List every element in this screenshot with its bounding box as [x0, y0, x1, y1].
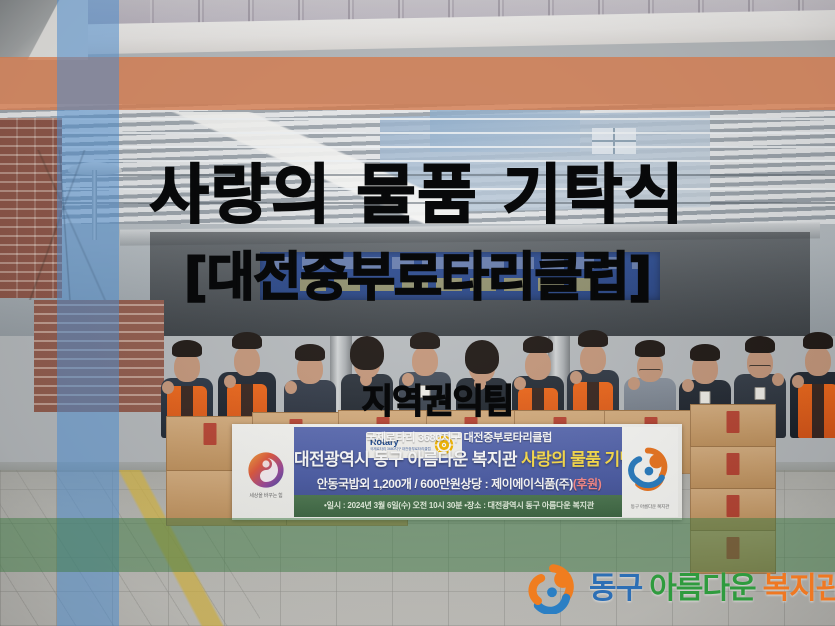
person-hair	[295, 344, 325, 361]
banner-line-3-highlight: (후원)	[573, 477, 601, 491]
banner-line-1: 국제로타리 3680지구 대전중부로타리클럽	[294, 431, 624, 446]
railing-bar	[0, 132, 835, 134]
korea-government-emblem-icon	[246, 450, 286, 490]
person-head	[580, 344, 606, 374]
person-hair	[690, 344, 720, 361]
railing-bar	[0, 118, 835, 120]
brand-word-areumdaun: 아름다운	[649, 571, 755, 606]
person-hair	[172, 340, 202, 357]
poster-canvas: 세상을 바꾸는 힘 Rotary 국제로타리 3680지구 대전중부로타리클럽	[0, 0, 835, 626]
railing-bar	[0, 146, 835, 148]
box-stamp	[727, 495, 740, 517]
banner-blue-panel: Rotary 국제로타리 3680지구 대전중부로타리클럽	[294, 427, 624, 517]
brand-wordmark: 동구아름다운복지관	[589, 574, 835, 604]
banner-footer-text: •일시 : 2024년 3월 6일(수) 오전 10시 30분 •장소 : 대전…	[294, 495, 624, 517]
person-hair	[410, 332, 440, 349]
person-hair	[745, 336, 775, 353]
page-subtitle: [대전중부로타리클럽]	[0, 248, 835, 308]
brand-lockup: 동구아름다운복지관	[524, 562, 835, 616]
team-label: 지역권익팀	[0, 382, 835, 422]
person-hair	[803, 332, 833, 349]
banner-line-2-prefix: 대전광역시 동구 아름다운 복지관	[294, 450, 521, 469]
page-title: 사랑의 물품 기탁식	[0, 160, 835, 232]
donggu-welfare-logo-icon	[524, 564, 580, 614]
brand-word-bokjigwan: 복지관	[763, 571, 835, 606]
person-hair	[635, 340, 665, 357]
brand-word-donggu: 동구	[589, 571, 642, 606]
box-stamp	[727, 453, 740, 475]
person-head	[805, 346, 831, 376]
person-head	[525, 350, 551, 380]
person-hair	[523, 336, 553, 353]
banner-footer-strip: •일시 : 2024년 3월 6일(수) 오전 10시 30분 •장소 : 대전…	[294, 495, 624, 517]
banner-line-2: 대전광역시 동구 아름다운 복지관 사랑의 물품 기탁	[294, 447, 624, 473]
donation-box	[690, 446, 776, 490]
person-hair	[465, 340, 499, 374]
banner-welfare-logo-panel: 동구 아름다운 복지관	[622, 427, 678, 517]
orange-accent-band	[0, 57, 835, 110]
box-stamp	[204, 423, 217, 445]
person-hair	[232, 332, 262, 349]
event-banner: 세상을 바꾸는 힘 Rotary 국제로타리 3680지구 대전중부로타리클럽	[232, 424, 682, 520]
welfare-logo-caption: 동구 아름다운 복지관	[622, 504, 678, 510]
person-hair	[578, 330, 608, 347]
banner-line-2-highlight: 사랑의 물품 기탁	[521, 450, 624, 469]
eyeglasses	[749, 365, 771, 372]
welfare-center-logo-icon	[623, 443, 677, 497]
banner-line-3-prefix: 안동국밥외 1,200개 / 600만원상당 : 제이에이식품(주)	[317, 477, 573, 491]
gov-emblem-caption: 세상을 바꾸는 힘	[238, 492, 294, 499]
person-head	[412, 346, 438, 376]
eyeglasses	[639, 369, 661, 376]
banner-line-3: 안동국밥외 1,200개 / 600만원상당 : 제이에이식품(주)(후원)	[294, 474, 624, 494]
person-head	[234, 346, 260, 376]
person-hair	[350, 336, 384, 370]
